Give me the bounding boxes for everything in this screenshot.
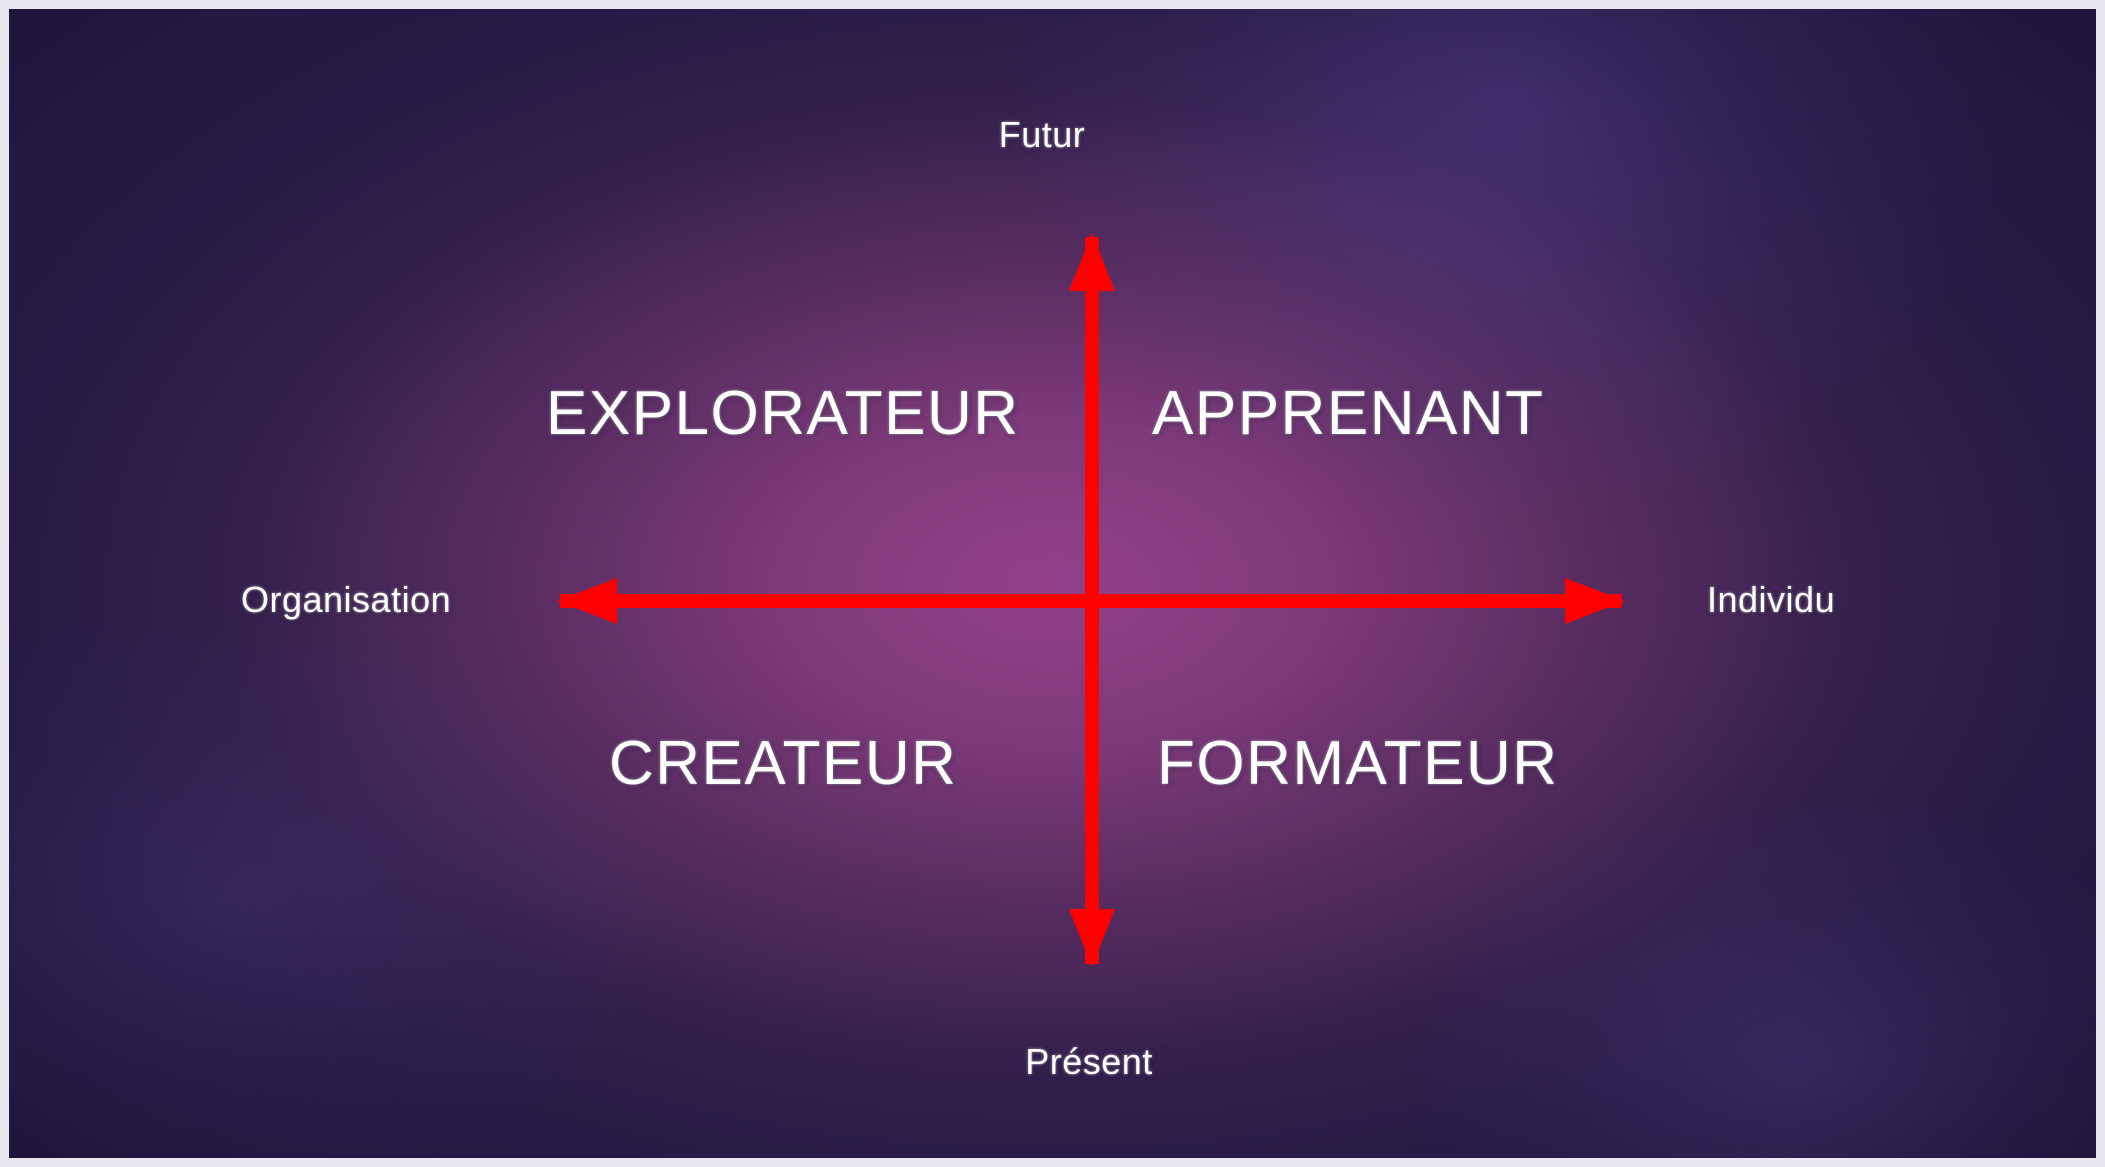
quadrant-label-formateur: FORMATEUR [1157,733,1559,795]
axis-label-futur: Futur [999,117,1086,153]
axis-label-individu: Individu [1707,582,1835,618]
slide-canvas: Futur Présent Organisation Individu EXPL… [0,0,2105,1167]
quadrant-label-createur: CREATEUR [609,733,957,795]
quadrant-label-explorateur: EXPLORATEUR [546,383,1020,445]
quadrant-label-apprenant: APPRENANT [1152,383,1544,445]
axis-label-present: Présent [1025,1044,1153,1080]
axis-label-organisation: Organisation [241,582,451,618]
